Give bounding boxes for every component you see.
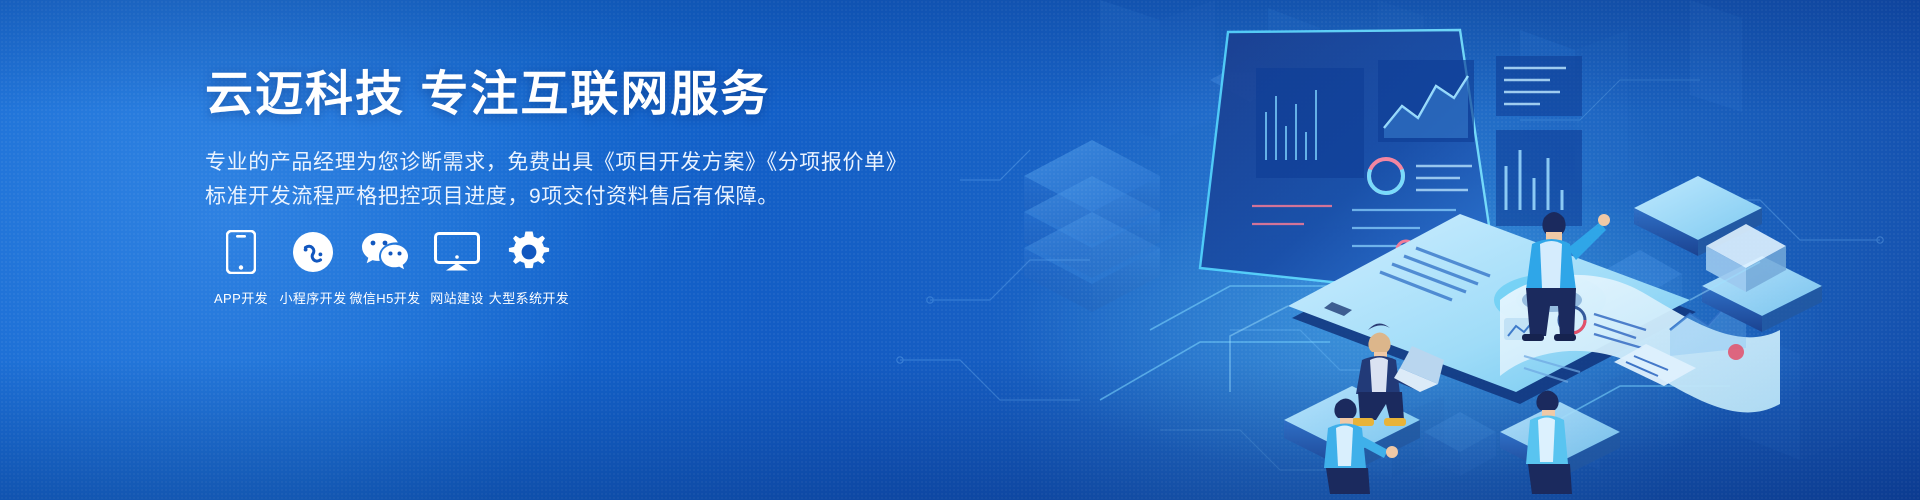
gear-icon xyxy=(508,228,550,276)
service-label: 微信H5开发 xyxy=(349,288,420,307)
service-list: APP开发 小程序开发 xyxy=(205,228,565,307)
page-title: 云迈科技 专注互联网服务 xyxy=(205,66,925,124)
monitor-icon xyxy=(434,228,480,276)
service-label: APP开发 xyxy=(214,288,268,307)
subtitle-line-1: 专业的产品经理为您诊断需求，免费出具《项目开发方案》《分项报价单》 xyxy=(205,146,925,180)
service-item-mini-program[interactable]: 小程序开发 xyxy=(277,228,349,307)
service-item-wechat-h5[interactable]: 微信H5开发 xyxy=(349,228,421,307)
service-label: 网站建设 xyxy=(430,288,484,307)
banner-text-block: 云迈科技 专注互联网服务 专业的产品经理为您诊断需求，免费出具《项目开发方案》《… xyxy=(205,66,925,214)
mobile-phone-icon xyxy=(226,228,256,276)
wechat-icon xyxy=(361,228,409,276)
subtitle-block: 专业的产品经理为您诊断需求，免费出具《项目开发方案》《分项报价单》 标准开发流程… xyxy=(205,146,925,214)
service-label: 小程序开发 xyxy=(279,288,346,307)
subtitle-line-2: 标准开发流程严格把控项目进度，9项交付资料售后有保障。 xyxy=(205,180,925,214)
hero-banner: 云迈科技 专注互联网服务 专业的产品经理为您诊断需求，免费出具《项目开发方案》《… xyxy=(0,0,1920,500)
isometric-tech-illustration xyxy=(900,0,1920,500)
service-label: 大型系统开发 xyxy=(489,288,569,307)
mini-program-icon xyxy=(292,228,334,276)
service-item-large-system[interactable]: 大型系统开发 xyxy=(493,228,565,307)
service-item-app[interactable]: APP开发 xyxy=(205,228,277,307)
service-item-website[interactable]: 网站建设 xyxy=(421,228,493,307)
background-glow-right xyxy=(900,10,1800,500)
